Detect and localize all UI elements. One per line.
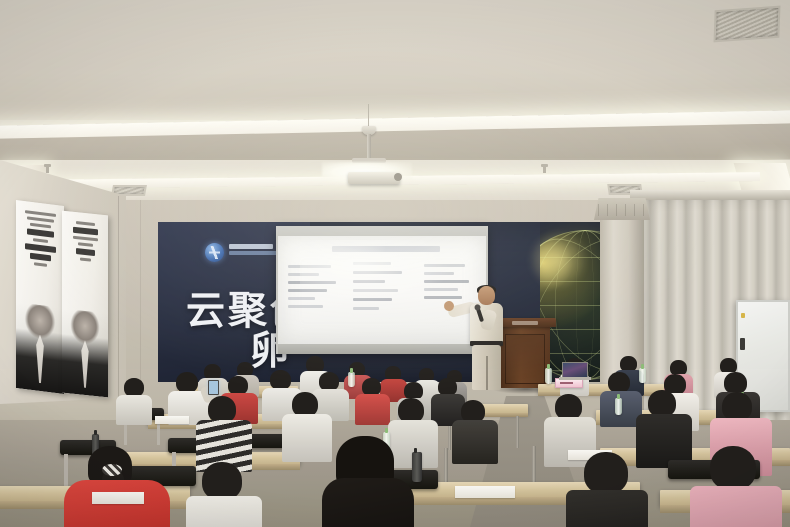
poster-line — [73, 236, 98, 242]
poster-line — [78, 242, 93, 247]
poster-text-block — [69, 220, 102, 262]
poster-line — [80, 257, 92, 261]
ceiling-upper-slab — [0, 0, 790, 120]
poster-line — [76, 221, 96, 226]
water-bottle — [639, 368, 646, 383]
poster-headline — [30, 253, 51, 262]
laptop-screen — [562, 362, 588, 378]
conference-room-photo: 云聚创 卵 — [0, 0, 790, 527]
poster-line — [30, 223, 51, 229]
wall-poster-left — [16, 200, 64, 394]
sprinkler-icon — [543, 166, 546, 173]
water-bottle — [412, 452, 422, 482]
water-bottle — [348, 372, 355, 387]
projection-screen-bottom-bar — [278, 344, 486, 354]
projector-mount-pole — [367, 134, 371, 160]
globe-light-flare — [528, 230, 588, 290]
curtain-rail — [630, 190, 790, 200]
air-vent-icon — [714, 6, 781, 43]
desk-leg — [516, 416, 519, 448]
handout-paper — [455, 486, 515, 498]
presenter-leg-seam — [486, 356, 488, 390]
presenter — [456, 286, 516, 390]
projector — [348, 172, 400, 184]
chair-frame — [64, 454, 68, 486]
projection-screen — [278, 236, 486, 346]
poster-headline — [73, 227, 98, 236]
logo-line-1 — [229, 244, 273, 249]
smartphone — [208, 380, 219, 395]
poster-line — [27, 216, 53, 222]
wall-poster-right — [62, 211, 108, 398]
attendee-hair-long — [322, 478, 414, 527]
laptop-base — [559, 377, 591, 380]
poster-line — [34, 262, 46, 267]
slide-column-2 — [353, 262, 407, 310]
poster-headline — [76, 248, 96, 256]
poster-line — [33, 238, 49, 243]
water-bottle — [615, 398, 622, 415]
presenter-head — [478, 286, 495, 305]
company-logo-icon — [205, 243, 224, 262]
handout-paper — [155, 416, 189, 424]
sprinkler-icon — [46, 166, 49, 173]
column-capital-grooves — [598, 204, 646, 216]
projector-lens-icon — [394, 173, 402, 181]
poster-headline — [25, 243, 57, 253]
placard-text — [560, 382, 574, 384]
slide-title — [332, 246, 440, 252]
hair-scrunchie — [102, 464, 122, 476]
slide-column-1 — [288, 265, 338, 308]
poster-headline — [27, 228, 53, 237]
whiteboard-clip — [741, 313, 745, 318]
poster-text-block — [23, 210, 58, 268]
water-bottle — [545, 368, 552, 384]
projector-cable — [368, 104, 369, 128]
handout-paper — [92, 492, 144, 504]
whiteboard-marker-tray — [740, 338, 745, 350]
